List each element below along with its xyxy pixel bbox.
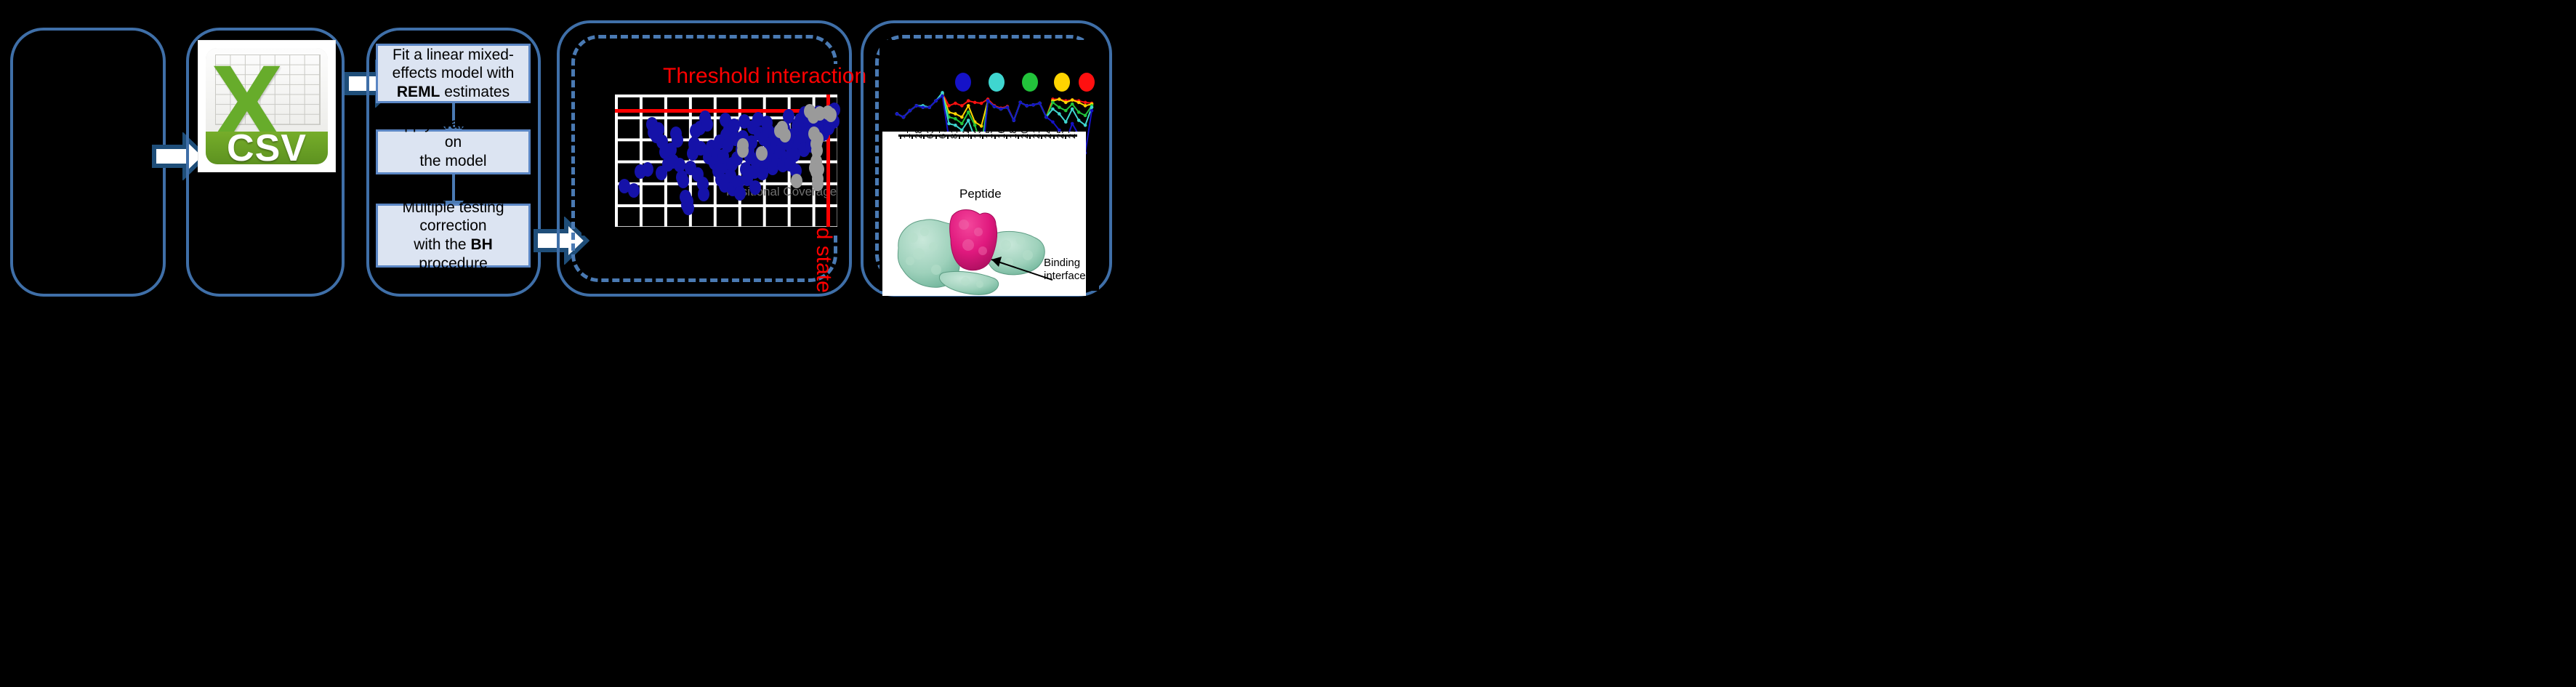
x-tick-label: 63-73 (925, 132, 935, 139)
x-tick-mark (994, 134, 996, 139)
peptide-marker (999, 108, 1003, 111)
peptide-marker (1071, 98, 1074, 102)
peptide-marker (895, 112, 899, 116)
peptide-marker (993, 105, 997, 108)
x-tick-mark (935, 134, 937, 139)
x-tick-mark (1018, 134, 1019, 139)
step-bh-line2: correction (419, 217, 486, 234)
peptide-marker (967, 111, 970, 114)
peptide-marker (1064, 121, 1068, 124)
x-tick-label: 218-237 (1031, 132, 1042, 139)
x-tick-mark (1053, 134, 1055, 139)
step-reml-box: Fit a linear mixed- effects model with R… (376, 44, 531, 103)
peptide-marker (1058, 97, 1061, 101)
csv-file-icon: X CSV (198, 41, 335, 172)
x-tick-label: 167-180 (996, 132, 1007, 139)
csv-label: CSV (227, 126, 307, 164)
x-tick-label: 28-44 (913, 132, 924, 139)
step-reml-line1: Fit a linear mixed- (393, 47, 514, 63)
peptide-marker (1006, 105, 1010, 109)
peptide-marker (960, 116, 964, 119)
peptide-marker (1071, 108, 1074, 111)
peptide-marker (1058, 112, 1061, 116)
peptide-marker (980, 102, 983, 105)
peptide-marker (973, 101, 977, 105)
volcano-plot: Threshold interaction Threshold state Po… (581, 64, 843, 236)
x-tick-mark (1065, 134, 1066, 139)
peptide-marker (915, 104, 919, 108)
threshold-interaction-label: Threshold interaction (663, 64, 866, 89)
x-tick-mark (923, 134, 925, 139)
x-tick-mark (959, 134, 960, 139)
x-tick-label: 67-75 (937, 132, 948, 139)
peptide-marker (1018, 101, 1022, 105)
peptide-marker (921, 105, 925, 109)
x-tick-mark (1041, 134, 1042, 139)
peptide-marker (1064, 109, 1068, 113)
peptide-marker (960, 104, 964, 108)
y-tick-0: 0.0 (884, 132, 898, 133)
x-tick-label: 122-129 (960, 132, 971, 139)
x-tick-mark (1029, 134, 1031, 139)
peptide-marker (1051, 101, 1055, 105)
step-bh-line1: Multiple testing (402, 199, 504, 216)
peptide-marker (1051, 108, 1055, 111)
x-tick-label: 200-214 (1019, 132, 1030, 139)
peptide-marker (1084, 124, 1087, 127)
step-wald-bold: Wald tests (437, 116, 512, 132)
peptide-marker (960, 122, 964, 126)
peptide-marker (954, 112, 957, 116)
peptide-marker (941, 91, 944, 95)
panel-input (10, 28, 166, 297)
peptide-marker (1084, 104, 1087, 108)
peptide-marker (941, 95, 944, 98)
binding-interface-line1: Binding (1044, 257, 1080, 269)
step-reml-rest: estimates (440, 84, 510, 100)
x-tick-mark (900, 134, 901, 139)
peptide-marker (1058, 105, 1061, 109)
peptide-marker (909, 109, 912, 113)
peptide-marker (1071, 122, 1074, 126)
peptide-marker (1071, 103, 1074, 106)
peptide-marker (980, 124, 983, 128)
step-bh-box: Multiple testing correction with the BH … (376, 204, 531, 268)
peptide-marker (954, 117, 957, 121)
peptide-marker (1090, 105, 1094, 109)
step-reml-line2: effects model with (393, 65, 515, 81)
peptide-figure: 0.0 1-1528-4463-7367-7581-101122-129135-… (880, 40, 1099, 291)
peptide-marker (1077, 118, 1081, 122)
peptide-marker (1064, 101, 1068, 105)
step-wald-pre: Apply (394, 116, 436, 132)
x-tick-label: 1-15 (901, 132, 912, 139)
peptide-line-t4 (897, 95, 1092, 126)
peptide-marker (967, 104, 970, 108)
step-bh-bold: BH (470, 236, 492, 253)
peptide-marker (1090, 109, 1094, 113)
x-tick-mark (970, 134, 972, 139)
peptide-marker (934, 99, 938, 103)
peptide-marker (1038, 102, 1042, 105)
peptide-marker (1051, 121, 1055, 124)
step-reml-bold: REML (397, 84, 440, 100)
peptide-marker (954, 124, 957, 127)
peptide-marker (1077, 111, 1081, 114)
peptide-marker (902, 116, 906, 119)
peptide-axis-title: Peptide (959, 187, 1002, 201)
peptide-marker (1045, 116, 1048, 119)
binding-interface-line2: interface (1044, 270, 1086, 282)
x-tick-label: 135-144 (972, 132, 983, 139)
x-tick-label: 184-199 (1007, 132, 1018, 139)
step-bh-line3-post: procedure (419, 255, 488, 272)
binding-interface-annotation: Bindinginterface (1044, 257, 1086, 282)
x-tick-label: 81-101 (949, 132, 959, 139)
x-tick-label: 241-257 (1042, 132, 1053, 139)
peptide-marker (967, 99, 970, 103)
x-tick-label: 158-166 (983, 132, 994, 139)
step-wald-box: Apply Wald tests on the model parameters (376, 129, 531, 174)
step-wald-post: on (445, 134, 462, 150)
peptide-marker (1077, 101, 1081, 105)
x-tick-mark (1006, 134, 1007, 139)
structure-card: 0.0 1-1528-4463-7367-7581-101122-129135-… (882, 132, 1086, 296)
step-bh-line3-pre: with the (414, 236, 470, 253)
peptide-marker (927, 105, 931, 109)
x-tick-label: 277-284 (1066, 132, 1077, 139)
peptide-marker (986, 99, 990, 103)
peptide-marker (967, 118, 970, 122)
x-tick-mark (947, 134, 949, 139)
x-tick-mark (911, 134, 913, 139)
x-tick-mark (982, 134, 983, 139)
peptide-marker (947, 122, 951, 126)
peptide-marker (1031, 103, 1035, 107)
volcano-plot-area: Positional Coverage (615, 95, 837, 227)
peptide-marker (1013, 118, 1016, 122)
peptide-marker (954, 102, 957, 105)
peptide-legend (880, 40, 1099, 69)
peptide-marker (1084, 114, 1087, 118)
pipeline-diagram: X CSV Fit a linear mixed- effects model … (0, 0, 2576, 687)
peptide-marker (1084, 101, 1087, 105)
peptide-marker (973, 124, 977, 127)
x-tick-label: 258-266 (1055, 132, 1066, 139)
peptide-marker (1025, 104, 1029, 108)
